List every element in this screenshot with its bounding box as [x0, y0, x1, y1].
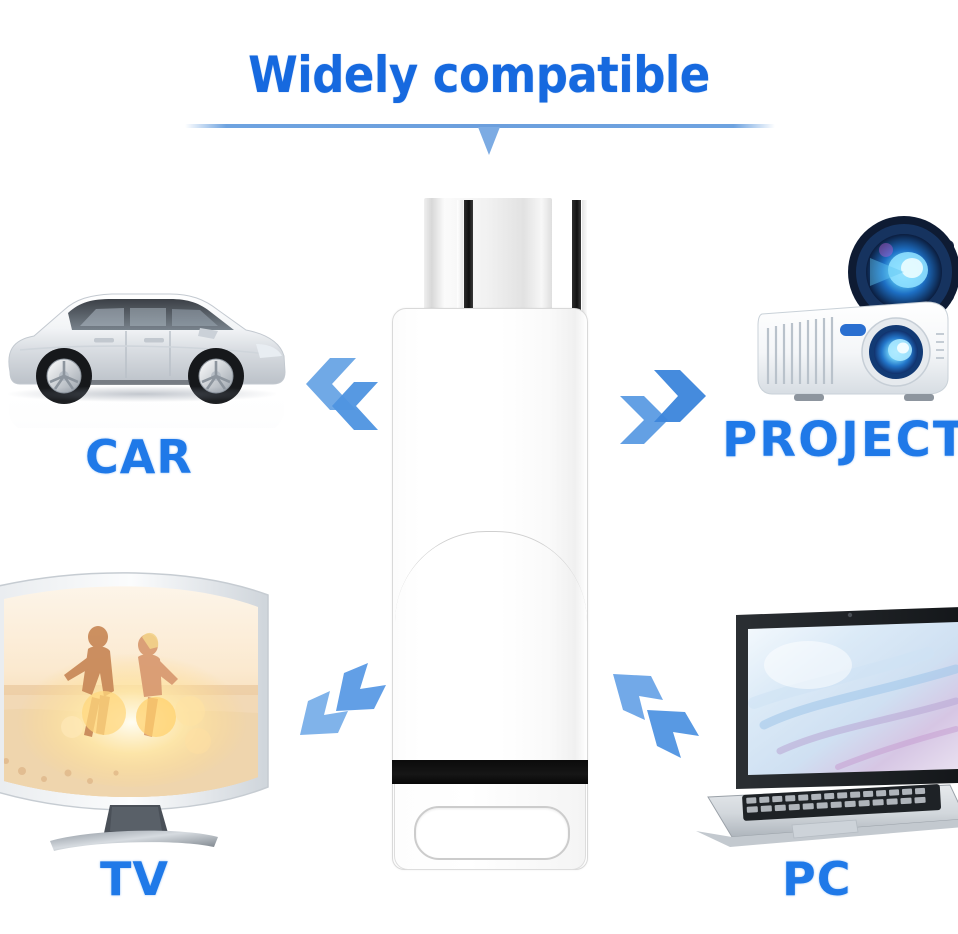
usb-flash-drive	[392, 198, 588, 870]
double-chevron-left-icon	[278, 350, 388, 450]
double-chevron-down-right-icon	[605, 660, 735, 775]
lanyard-slot	[414, 806, 570, 860]
connector-edge-right	[582, 200, 587, 318]
double-chevron-right-icon	[610, 352, 730, 452]
car-illustration	[0, 268, 294, 428]
usb-a-connector	[424, 198, 552, 318]
page-title: Widely compatible	[0, 46, 958, 104]
drive-cap-seam	[395, 531, 587, 622]
device-label-pc: PC	[782, 852, 851, 906]
triangle-down-icon	[478, 127, 500, 155]
projector-illustration	[750, 212, 958, 404]
device-label-tv: TV	[100, 852, 169, 906]
car-icon	[0, 268, 294, 428]
drive-black-band	[392, 760, 588, 784]
device-label-car: CAR	[85, 430, 193, 484]
connector-contact-bar-left	[464, 200, 473, 318]
projector-icon	[750, 212, 958, 404]
tv-icon	[0, 565, 280, 855]
infographic-canvas: Widely compatible	[0, 0, 958, 934]
device-label-projector: PROJECT	[722, 412, 958, 468]
car-shadow	[8, 386, 276, 402]
connector-contact-bar-right	[572, 200, 581, 318]
double-chevron-down-left-icon	[278, 655, 398, 765]
connector-edge-left	[457, 200, 463, 318]
tv-illustration	[0, 565, 280, 855]
